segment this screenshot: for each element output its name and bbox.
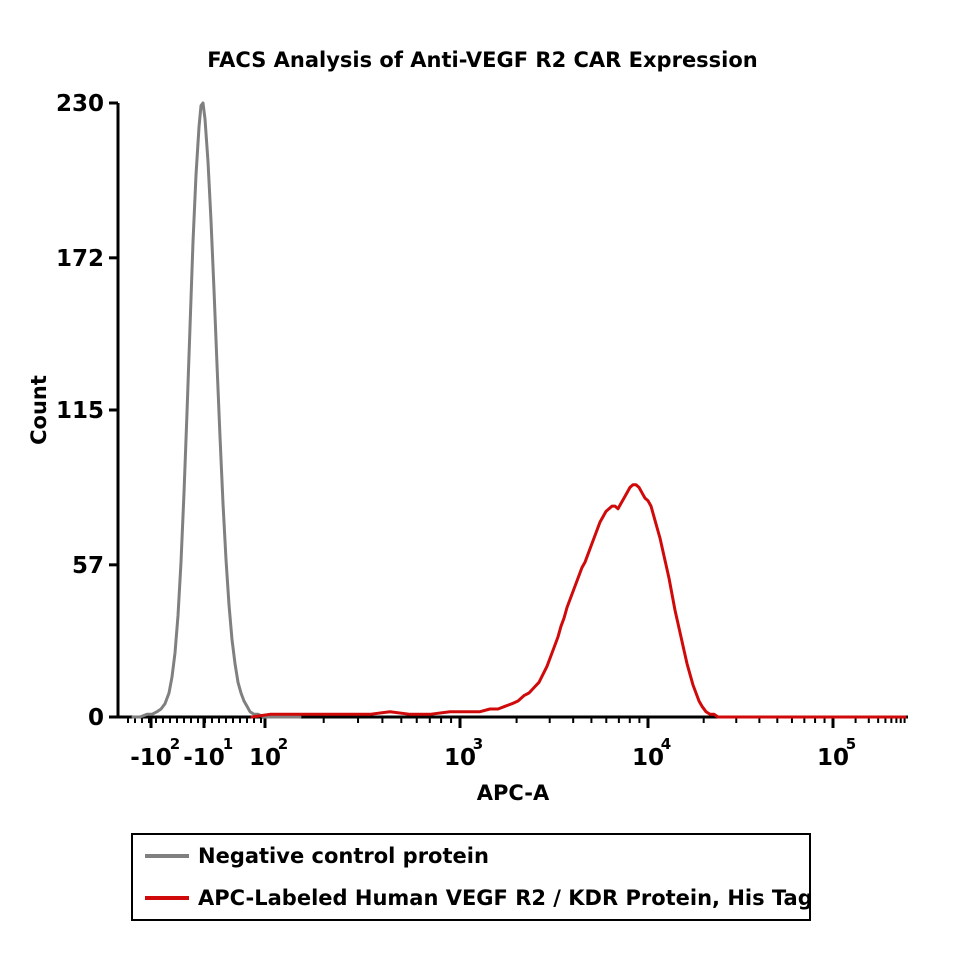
x-axis-title: APC-A	[477, 781, 550, 805]
x-tick-label-exponent: 2	[278, 735, 288, 753]
x-tick-label: 10	[249, 745, 281, 771]
histogram-curve-negative-control	[133, 103, 300, 717]
y-tick-label: 0	[88, 705, 104, 731]
x-tick-label: -10	[130, 745, 172, 771]
x-axis-ticks: -102-101102103104105	[128, 717, 905, 771]
histogram-curve-apc-labeled	[252, 485, 905, 717]
legend-item-negative-control: Negative control protein	[133, 835, 809, 877]
x-tick-label: 10	[817, 745, 849, 771]
legend-item-label: Negative control protein	[198, 844, 489, 868]
y-tick-label: 57	[72, 553, 104, 579]
axes-group	[118, 103, 908, 717]
x-tick-label-exponent: 2	[170, 735, 180, 753]
plot-area: 057115172230 -102-101102103104105 APC-A …	[0, 0, 965, 965]
x-tick-label: 10	[632, 745, 664, 771]
y-axis-title: Count	[27, 375, 51, 445]
y-tick-label: 115	[56, 398, 104, 424]
y-tick-label: 172	[56, 246, 104, 272]
legend-color-swatch-icon	[145, 854, 189, 858]
y-axis-ticks: 057115172230	[56, 91, 118, 731]
x-tick-label: -10	[183, 745, 225, 771]
legend: Negative control protein APC-Labeled Hum…	[131, 833, 811, 921]
histogram-curves	[133, 103, 905, 717]
legend-color-swatch-icon	[145, 896, 189, 900]
legend-item-label: APC-Labeled Human VEGF R2 / KDR Protein,…	[198, 886, 813, 910]
facs-histogram-figure: FACS Analysis of Anti-VEGF R2 CAR Expres…	[0, 0, 965, 965]
y-tick-label: 230	[56, 91, 104, 117]
legend-item-apc-labeled: APC-Labeled Human VEGF R2 / KDR Protein,…	[133, 877, 809, 919]
x-tick-label-exponent: 1	[223, 735, 233, 753]
x-tick-label-exponent: 3	[473, 735, 483, 753]
x-tick-label-exponent: 5	[846, 735, 856, 753]
x-tick-label: 10	[444, 745, 476, 771]
x-tick-label-exponent: 4	[661, 735, 671, 753]
